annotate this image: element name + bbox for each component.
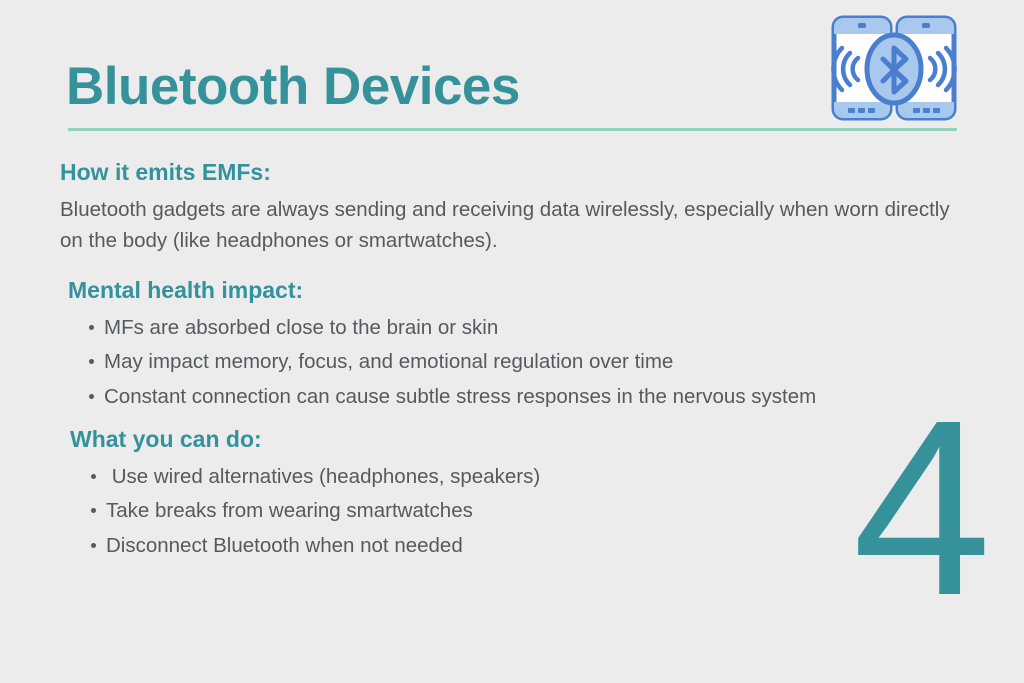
list-item: Use wired alternatives (headphones, spea…	[70, 461, 970, 493]
title-divider	[68, 128, 957, 131]
section-how-it-emits-emfs: How it emits EMFs: Bluetooth gadgets are…	[60, 158, 960, 256]
bullet-list-what-you-can-do: Use wired alternatives (headphones, spea…	[70, 461, 970, 562]
section-paragraph-how-it-emits-emfs: Bluetooth gadgets are always sending and…	[60, 194, 953, 256]
section-heading-what-you-can-do: What you can do:	[70, 425, 970, 455]
section-what-you-can-do: What you can do: Use wired alternatives …	[70, 425, 970, 565]
bluetooth-symbol-icon	[867, 35, 921, 103]
bluetooth-devices-icon	[826, 12, 962, 124]
list-item: Take breaks from wearing smartwatches	[70, 495, 970, 527]
list-item: May impact memory, focus, and emotional …	[68, 346, 968, 378]
page-title: Bluetooth Devices	[66, 58, 520, 115]
list-item: Disconnect Bluetooth when not needed	[70, 530, 970, 562]
section-heading-mental-health-impact: Mental health impact:	[68, 276, 968, 306]
list-item: Constant connection can cause subtle str…	[68, 381, 968, 413]
section-mental-health-impact: Mental health impact: MFs are absorbed c…	[68, 276, 968, 416]
list-item: MFs are absorbed close to the brain or s…	[68, 312, 968, 344]
slide-canvas: Bluetooth Devices	[0, 0, 1024, 683]
section-heading-how-it-emits-emfs: How it emits EMFs:	[60, 158, 960, 188]
bullet-list-mental-health-impact: MFs are absorbed close to the brain or s…	[68, 312, 968, 413]
